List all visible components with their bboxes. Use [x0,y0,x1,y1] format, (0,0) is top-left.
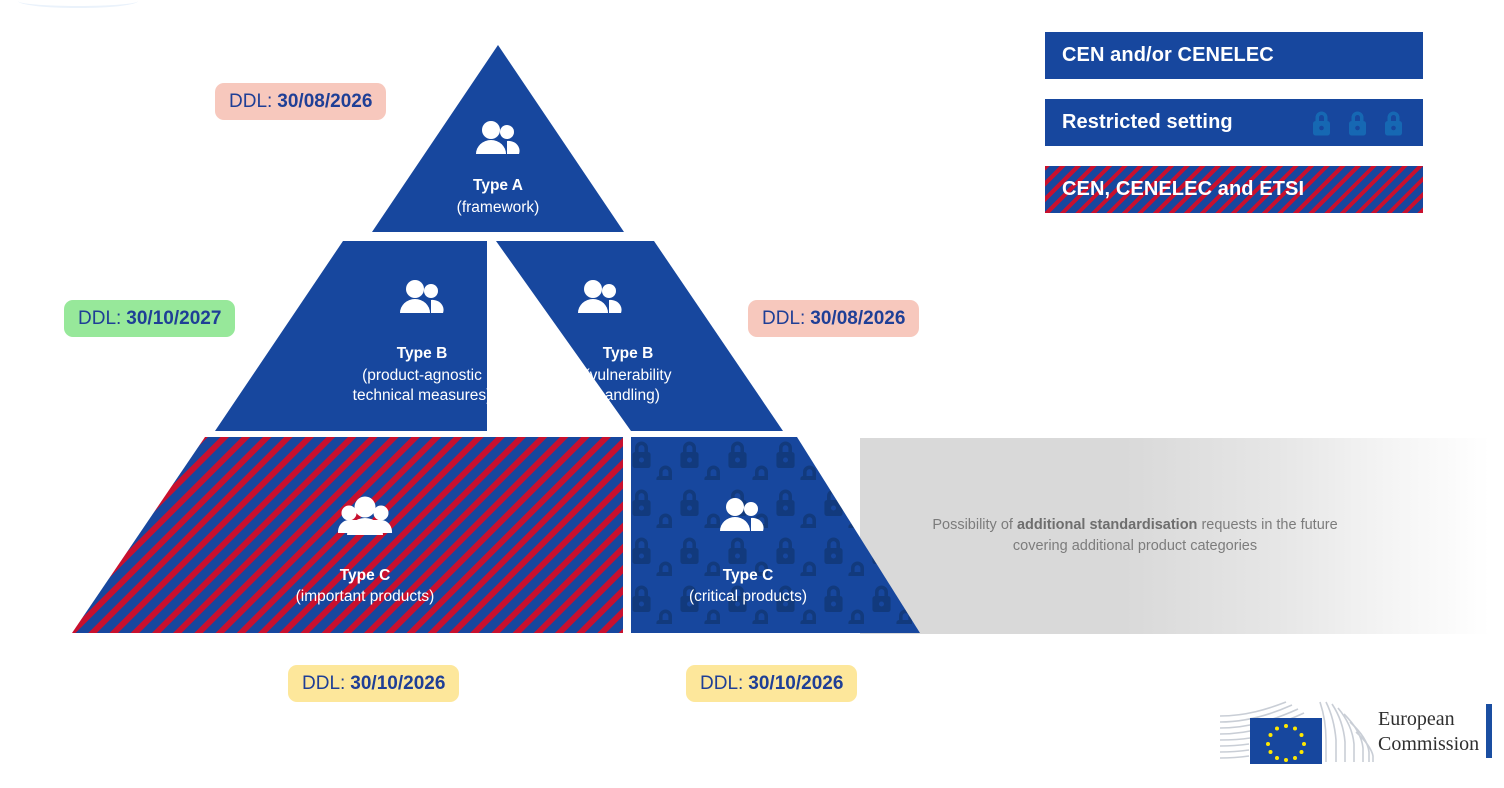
ddl-value: 30/10/2027 [126,308,221,330]
tier-subtitle-type-c-right: (critical products) [689,588,807,605]
logo-swoosh-right [1320,702,1373,762]
ddl-badge-type-b-right: DDL: 30/08/2026 [748,300,919,337]
logo-accent-bar [1486,704,1492,758]
ddl-label: DDL: [229,91,272,113]
european-commission-wordmark: European Commission [1378,707,1479,757]
legend-lock-icons [1310,109,1405,136]
legend-label: Restricted setting [1062,111,1233,134]
legend-label: CEN and/or CENELEC [1062,44,1274,67]
tier-subtitle-type-b-right-line2: handling) [596,387,660,404]
slide-canvas: Possibility of additional standardisatio… [0,0,1504,788]
tier-subtitle-type-b-right-line1: (vulnerability [584,367,671,384]
lock-icon [1310,109,1333,136]
tier-title-type-c-left: Type C [340,567,391,584]
tier-title-type-a: Type A [473,177,523,194]
lock-icon [1382,109,1405,136]
legend: CEN and/or CENELEC Restricted setting [1045,32,1423,233]
legend-item-cen-cenelec-etsi: CEN, CENELEC and ETSI [1045,166,1423,213]
legend-label: CEN, CENELEC and ETSI [1062,178,1304,201]
ddl-label: DDL: [78,308,121,330]
tier-subtitle-type-c-left: (important products) [296,588,435,605]
ddl-value: 30/10/2026 [748,673,843,695]
pyramid-tier-type-b-vulnerability[interactable]: Type B (vulnerability handling) [496,241,783,431]
ddl-label: DDL: [700,673,743,695]
ddl-value: 30/08/2026 [277,91,372,113]
ddl-label: DDL: [762,308,805,330]
ddl-badge-type-b-left: DDL: 30/10/2027 [64,300,235,337]
ddl-badge-type-c-left: DDL: 30/10/2026 [288,665,459,702]
tier-subtitle-type-a: (framework) [457,199,540,216]
annotation-line1-suffix: requests in the future [1197,517,1337,533]
tier-subtitle-type-b-left-line2: technical measures) [353,387,492,404]
tier-title-type-b-right: Type B [603,345,654,362]
pyramid-tier-type-b-product-agnostic[interactable]: Type B (product-agnostic technical measu… [215,241,491,431]
annotation-line2: covering additional product categories [1013,538,1257,554]
ddl-value: 30/08/2026 [810,308,905,330]
ddl-badge-type-a: DDL: 30/08/2026 [215,83,386,120]
tier-title-type-b-left: Type B [397,345,448,362]
ddl-badge-type-c-right: DDL: 30/10/2026 [686,665,857,702]
annotation-line1-bold: additional standardisation [1017,517,1197,533]
standards-pyramid: Type A (framework) Type B (product-agnos… [0,0,1000,700]
organisation-line1: European [1378,707,1479,732]
ddl-label: DDL: [302,673,345,695]
pyramid-tier-type-c-critical[interactable]: Type C (critical products) [631,437,920,633]
pyramid-tier-type-c-important[interactable]: Type C (important products) [72,437,623,633]
tier-subtitle-type-b-left-line1: (product-agnostic [362,367,482,384]
pyramid-tier-type-a[interactable]: Type A (framework) [372,45,624,232]
lock-icon [1346,109,1369,136]
ddl-value: 30/10/2026 [350,673,445,695]
organisation-line2: Commission [1378,732,1479,757]
tier-title-type-c-right: Type C [723,567,774,584]
legend-item-cen-cenelec: CEN and/or CENELEC [1045,32,1423,79]
legend-item-restricted-setting: Restricted setting [1045,99,1423,146]
